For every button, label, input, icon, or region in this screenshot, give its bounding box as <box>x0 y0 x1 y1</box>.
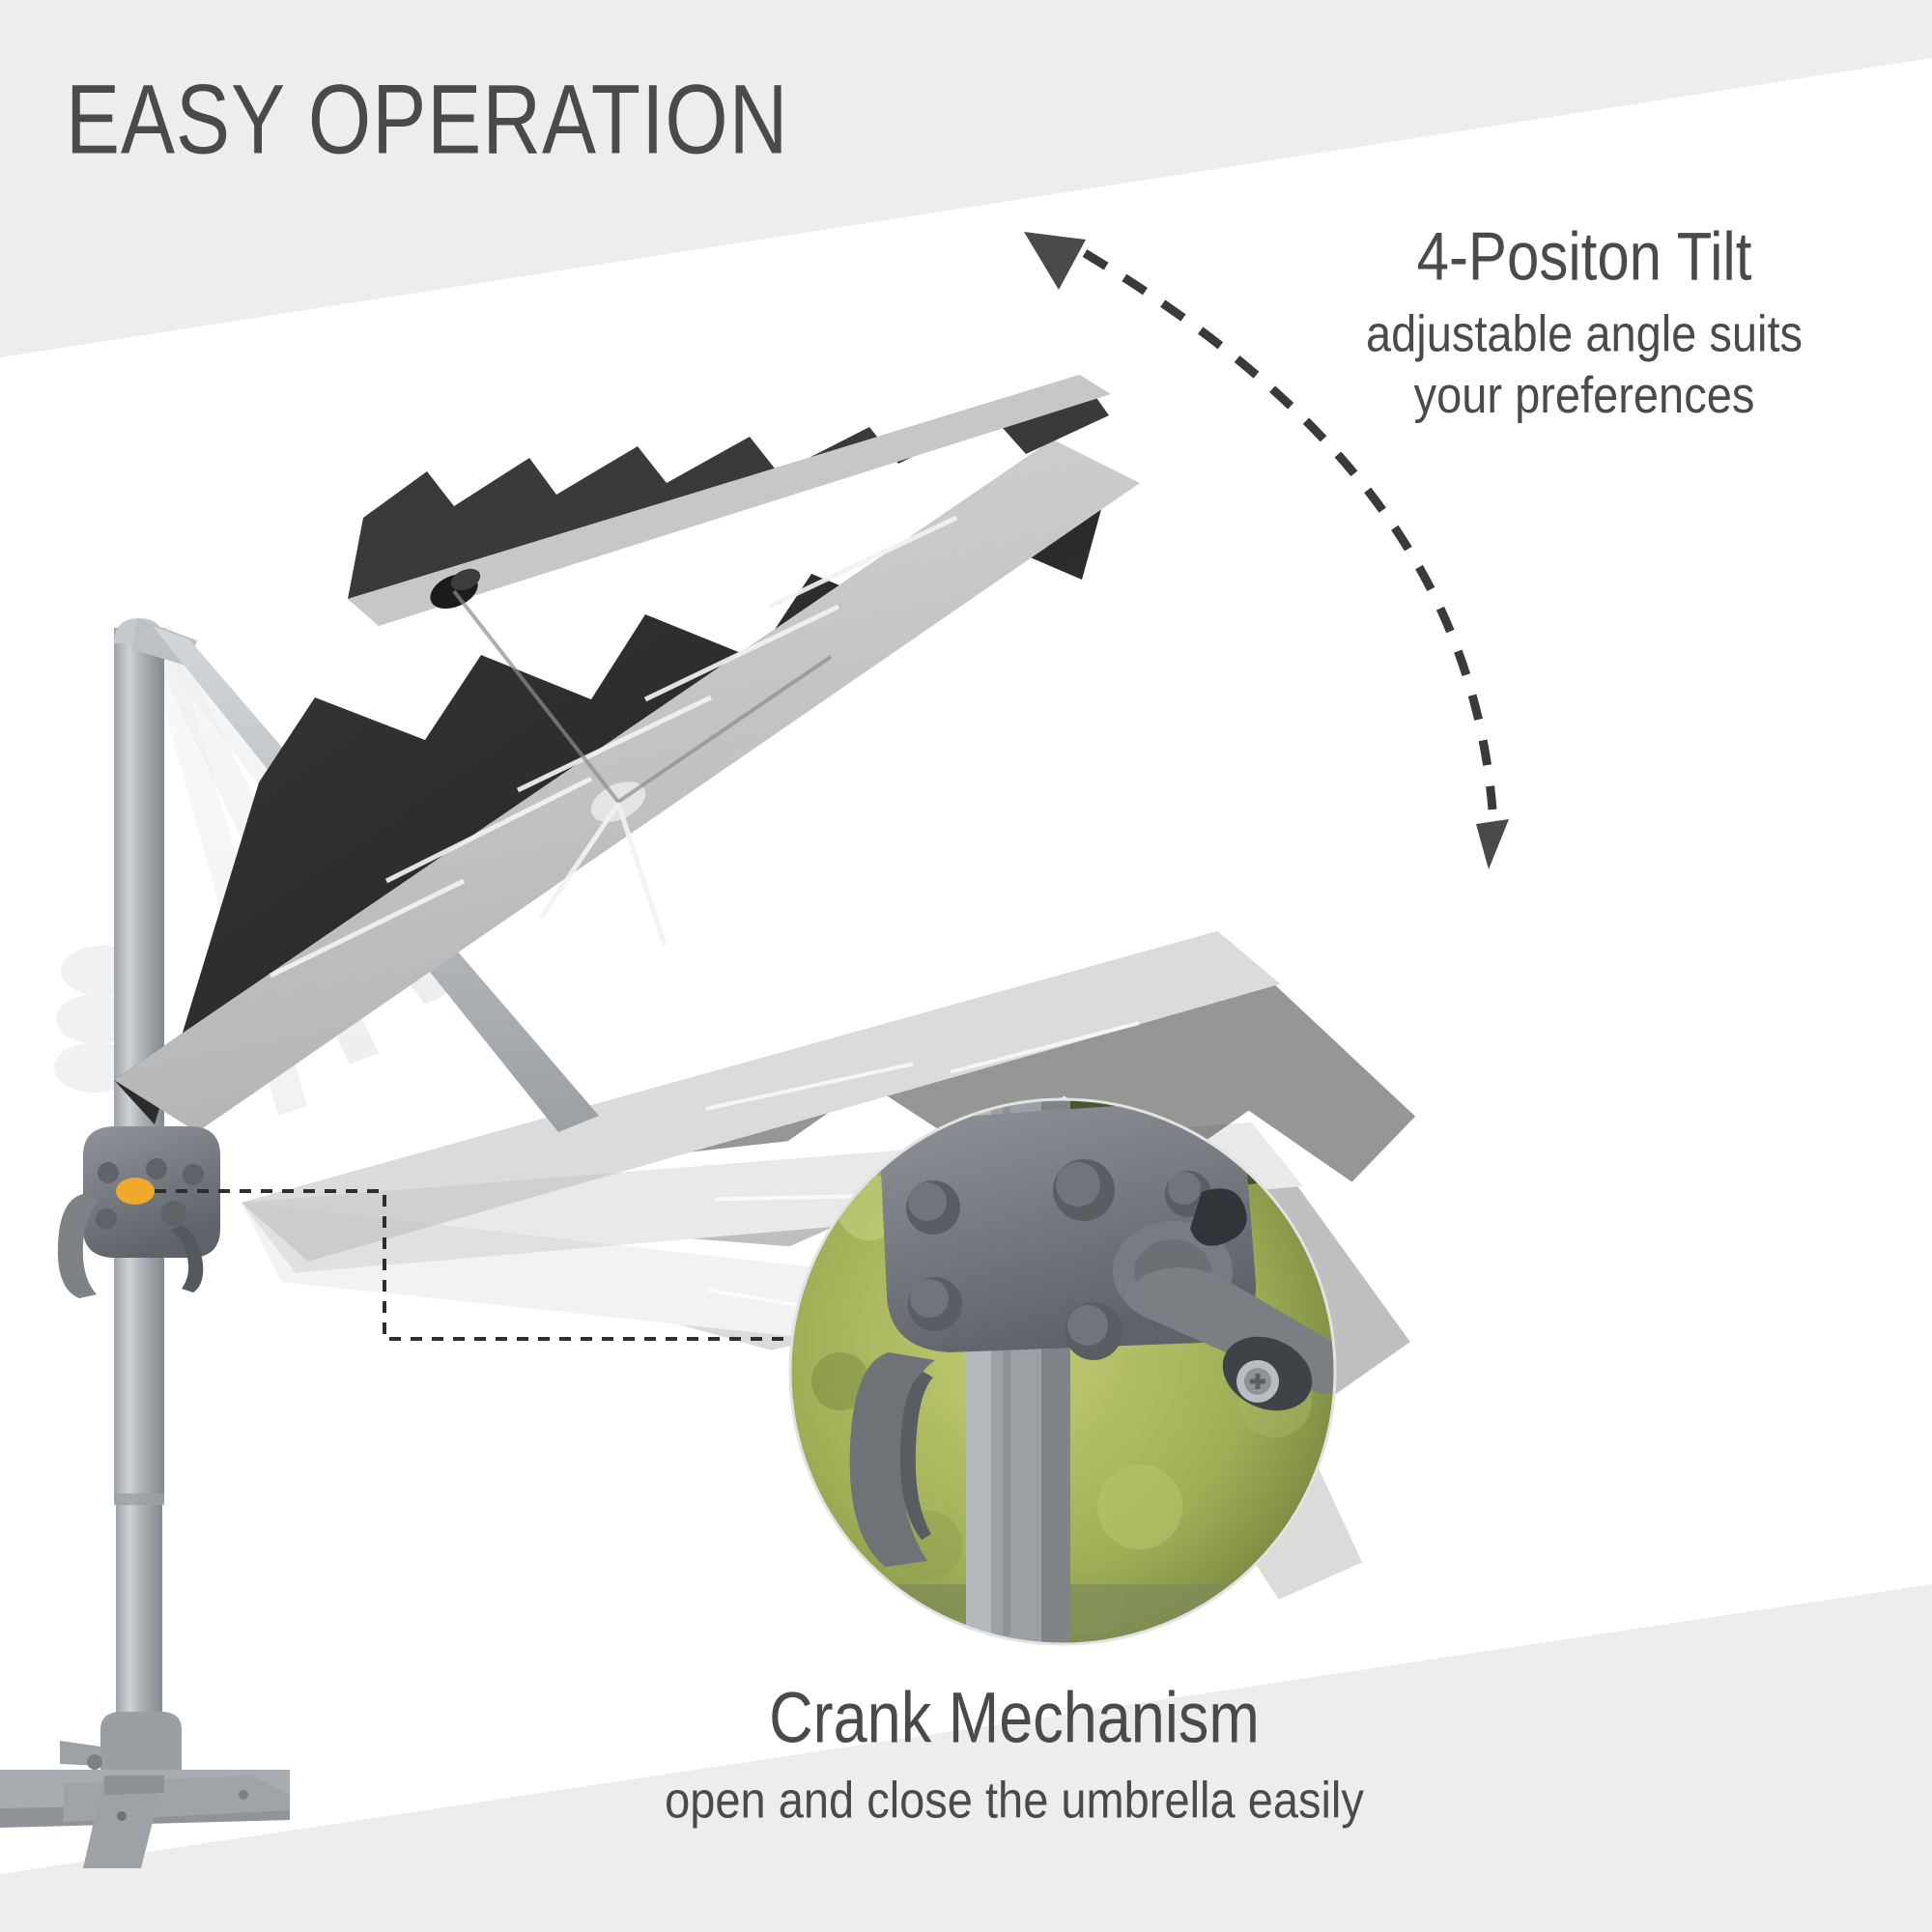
tilt-arrow-end <box>1476 819 1509 869</box>
page-title: EASY OPERATION <box>66 70 788 168</box>
tilt-arrow-start <box>1024 232 1086 290</box>
tilt-callout-title: 4-Positon Tilt <box>1246 220 1922 292</box>
tilt-subtitle-line-1: adjustable angle suits <box>1246 302 1922 364</box>
tilt-subtitle-line-2: your preferences <box>1246 364 1922 426</box>
umbrella-base <box>0 1712 290 1868</box>
crank-callout-title: Crank Mechanism <box>483 1681 1546 1756</box>
crank-callout: Crank Mechanism open and close the umbre… <box>483 1681 1546 1825</box>
infographic-canvas: EASY OPERATION 4-Positon Tilt adjustable… <box>0 0 1932 1932</box>
tilt-callout: 4-Positon Tilt adjustable angle suits yo… <box>1246 220 1922 413</box>
crank-callout-subtitle: open and close the umbrella easily <box>483 1770 1546 1831</box>
tilt-callout-subtitle: adjustable angle suits your preferences <box>1246 302 1922 426</box>
crank-location-dot <box>116 1178 155 1205</box>
